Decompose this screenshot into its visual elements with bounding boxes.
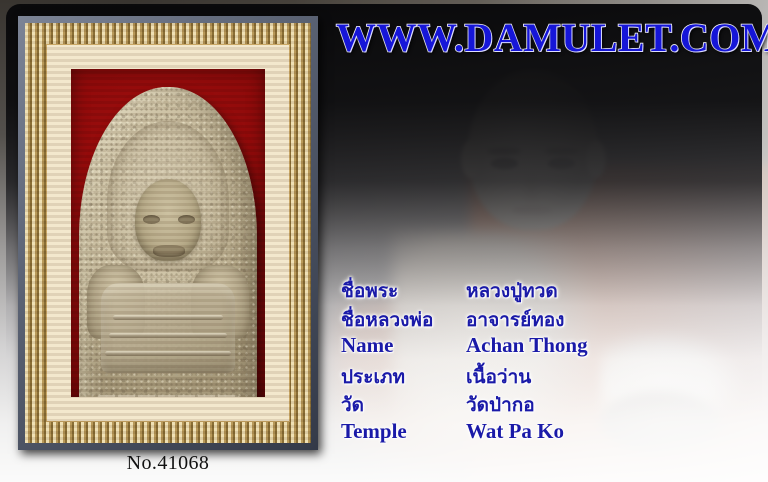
info-label: ชื่อพระ [341,276,466,306]
amulet-lotus-base [95,395,241,397]
amulet-info-table: ชื่อพระ หลวงปู่ทวด ชื่อหลวงพ่อ อาจารย์ทอ… [341,276,588,447]
amulet-robe-fold [109,333,227,338]
amulet-mouth [153,245,185,257]
frame-inner-liner [46,44,290,422]
info-value: หลวงปู่ทวด [466,276,558,306]
screenshot-root: WWW.DAMULET.COM [0,0,768,482]
site-title: WWW.DAMULET.COM [336,14,756,62]
info-value: เนื้อว่าน [466,362,531,392]
amulet-robe-fold [113,315,223,320]
info-label: Temple [341,419,466,444]
frame-red-mat [71,69,265,397]
info-value: Wat Pa Ko [466,419,564,444]
amulet-eye-left [143,215,160,224]
info-value: อาจารย์ทอง [466,305,564,335]
amulet-eye-right [178,215,195,224]
table-row: ชื่อหลวงพ่อ อาจารย์ทอง [341,305,588,334]
info-value: วัดป่ากอ [466,390,535,420]
info-value: Achan Thong [466,333,588,358]
table-row: วัด วัดป่ากอ [341,390,588,419]
amulet-catalog-number: No.41068 [18,452,318,475]
amulet-robe-fold [105,351,231,356]
amulet-frame [18,16,318,450]
table-row: Name Achan Thong [341,333,588,362]
frame-outer-border [18,16,318,450]
amulet-image [79,87,257,397]
amulet-robe [101,283,235,373]
info-label: วัด [341,390,466,420]
frame-gold-ornament [25,23,311,443]
table-row: ประเภท เนื้อว่าน [341,362,588,391]
info-label: ชื่อหลวงพ่อ [341,305,466,335]
table-row: ชื่อพระ หลวงปู่ทวด [341,276,588,305]
info-label: ประเภท [341,362,466,392]
table-row: Temple Wat Pa Ko [341,419,588,448]
info-label: Name [341,333,466,358]
